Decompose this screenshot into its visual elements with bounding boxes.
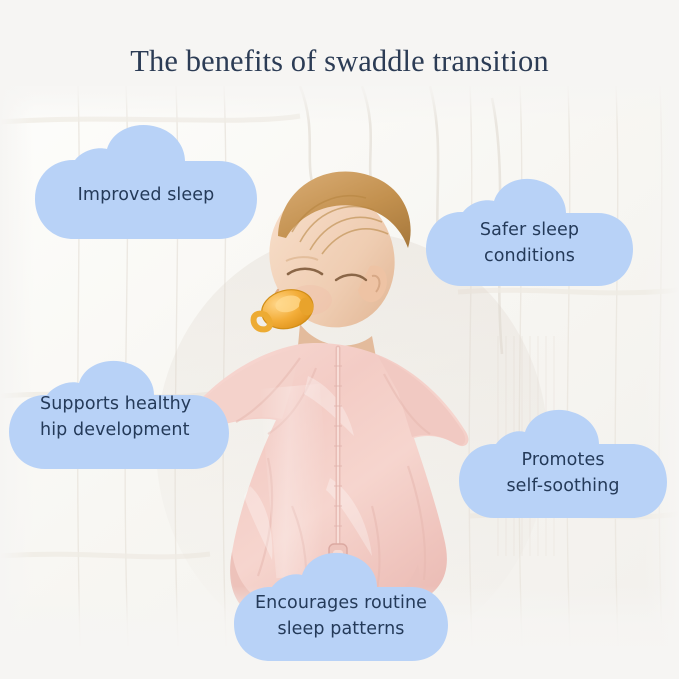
swaddle-benefits-infographic: The benefits of swaddle transition Impro…: [0, 0, 679, 679]
page-title: The benefits of swaddle transition: [0, 44, 679, 79]
benefit-cloud-sleep-patterns: Encourages routine sleep patterns: [232, 549, 450, 665]
benefit-cloud-safer-sleep: Safer sleep conditions: [424, 175, 635, 290]
benefit-cloud-self-soothing: Promotes self-soothing: [457, 406, 669, 522]
benefit-cloud-hip-development: Supports healthy hip development: [7, 357, 231, 473]
benefit-cloud-improved-sleep: Improved sleep: [33, 121, 259, 243]
